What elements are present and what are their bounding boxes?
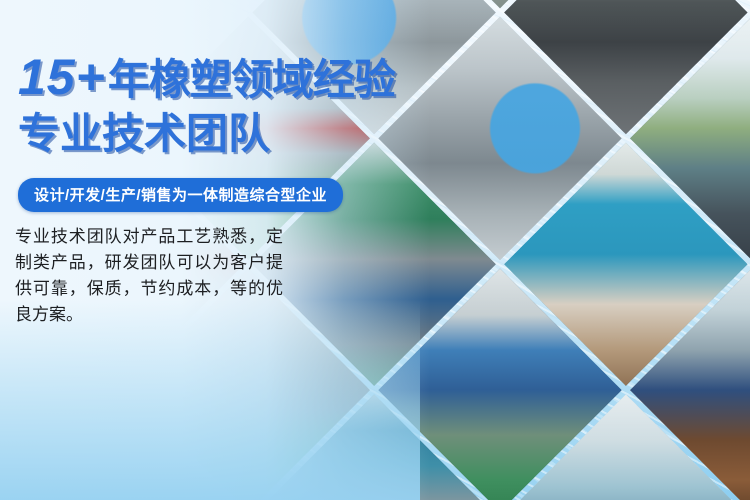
promo-banner: 15+年橡塑领域经验 专业技术团队 设计/开发/生产/销售为一体制造综合型企业 … [0,0,750,500]
description-paragraph: 专业技术团队对产品工艺熟悉，定制类产品，研发团队可以为客户提供可靠，保质，节约成… [15,224,283,328]
text-content-block: 15+年橡塑领域经验 专业技术团队 设计/开发/生产/销售为一体制造综合型企业 … [0,0,460,500]
headline-line-1-text: 年橡塑领域经验 [108,56,395,103]
headline-line-2: 专业技术团队 [18,113,270,155]
headline-line-1: 15+年橡塑领域经验 [18,52,395,102]
years-number: 15+ [18,49,106,105]
capability-badge: 设计/开发/生产/销售为一体制造综合型企业 [18,178,343,212]
